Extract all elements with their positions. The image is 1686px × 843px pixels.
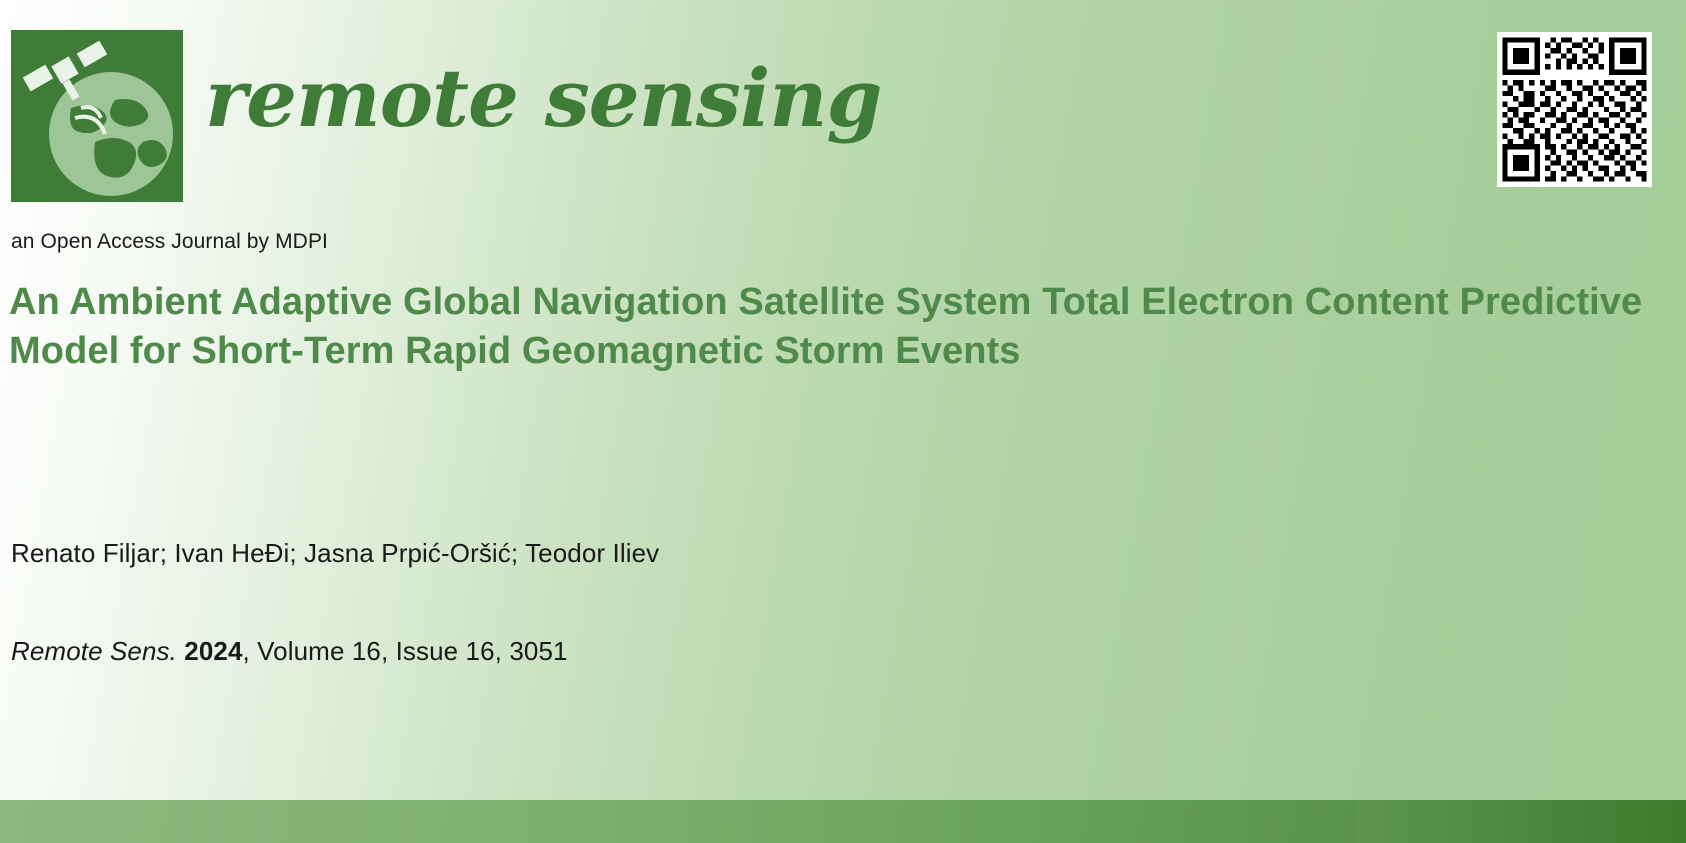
journal-logo: remote sensing	[11, 30, 881, 202]
qr-code-icon[interactable]	[1497, 32, 1652, 187]
satellite-globe-icon	[11, 30, 183, 202]
footer-band-accent	[1356, 800, 1686, 843]
journal-logo-text: remote sensing	[205, 58, 881, 138]
citation-line: Remote Sens. 2024, Volume 16, Issue 16, …	[11, 636, 568, 667]
citation-year: 2024	[184, 636, 242, 666]
journal-tagline: an Open Access Journal by MDPI	[11, 230, 328, 254]
author-list: Renato Filjar; Ivan HeĐi; Jasna Prpić-Or…	[11, 538, 659, 569]
citation-rest: , Volume 16, Issue 16, 3051	[243, 636, 568, 666]
page-title: An Ambient Adaptive Global Navigation Sa…	[9, 278, 1649, 375]
citation-journal: Remote Sens.	[11, 636, 177, 666]
journal-cover-poster: remote sensing	[0, 0, 1686, 843]
